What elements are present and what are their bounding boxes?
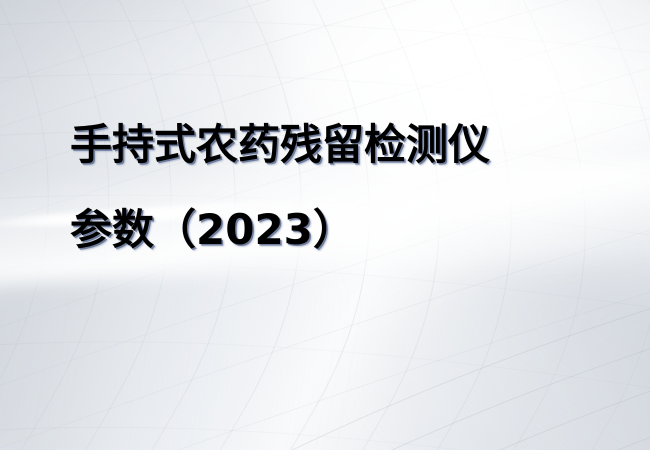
title-banner: 手持式农药残留检测仪 参数（2023） (0, 0, 650, 450)
title-block: 手持式农药残留检测仪 参数（2023） (70, 124, 610, 251)
title-line-1: 手持式农药残留检测仪 (70, 124, 610, 166)
shade-bottom-right (371, 275, 650, 450)
shade-top-right (468, 0, 650, 108)
title-line-2: 参数（2023） (70, 209, 610, 251)
shade-lower-left (0, 234, 390, 450)
